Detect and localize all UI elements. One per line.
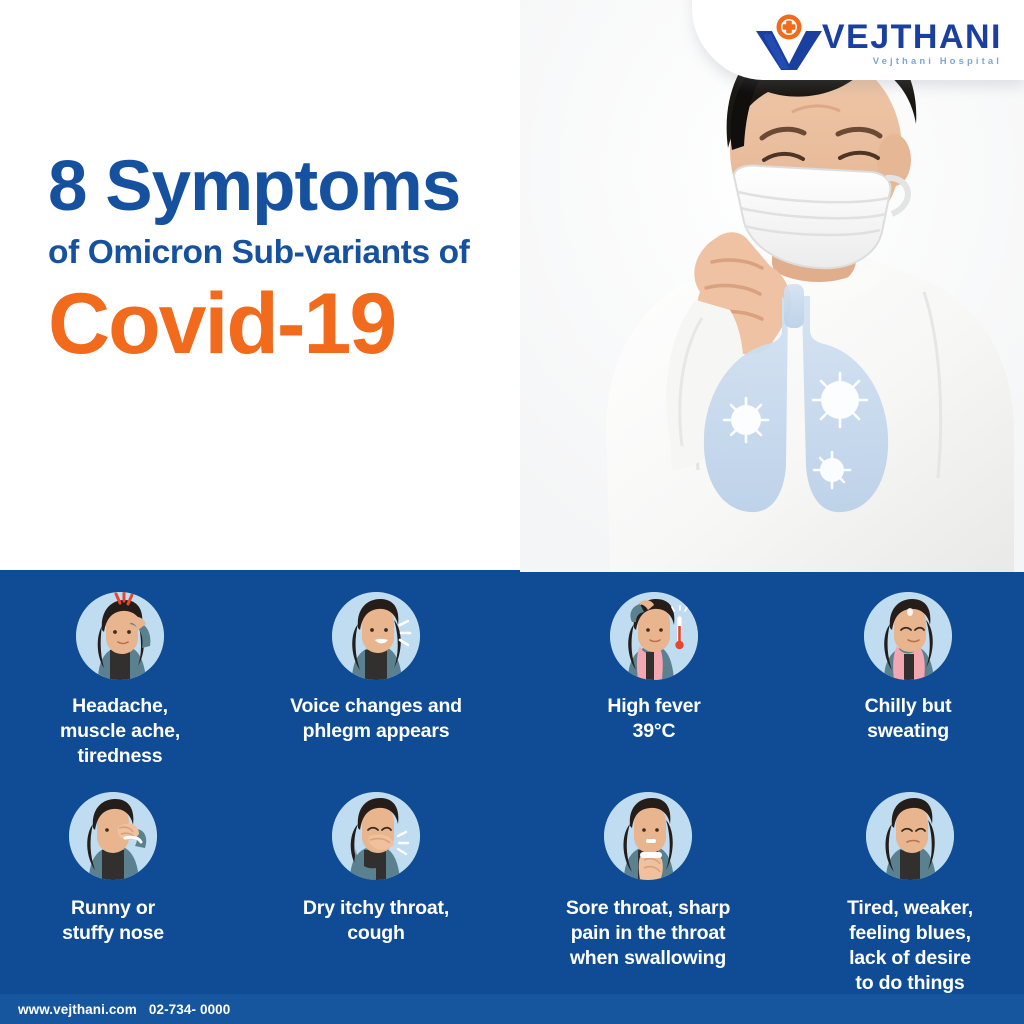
symptoms-row-2: Runny or stuffy nose [0, 792, 1024, 996]
headline-line-2: of Omicron Sub-variants of [48, 236, 469, 270]
logo-subtitle: Vejthani Hospital [822, 57, 1002, 67]
symptom-item-voice-changes: Voice changes and phlegm appears [248, 592, 504, 769]
woman-sore-throat-icon [604, 792, 692, 880]
symptom-item-headache: Headache, muscle ache, tiredness [0, 592, 248, 769]
hero-section: 8 Symptoms of Omicron Sub-variants of Co… [0, 0, 1024, 572]
symptom-label: Dry itchy throat, cough [303, 896, 449, 946]
woman-cough-icon [332, 792, 420, 880]
infographic-poster: 8 Symptoms of Omicron Sub-variants of Co… [0, 0, 1024, 1024]
vejthani-logo[interactable]: VEJTHANI Vejthani Hospital [750, 14, 1002, 72]
hero-photo-coughing-man [520, 0, 1024, 572]
symptom-label: High fever 39°C [607, 694, 700, 744]
woman-fatigue-icon [866, 792, 954, 880]
footer-bar: www.vejthani.com 02-734- 0000 [0, 994, 1024, 1024]
symptom-item-high-fever: High fever 39°C [526, 592, 782, 769]
headline-line-3: Covid-19 [48, 281, 469, 367]
symptom-item-tired-weaker: Tired, weaker, feeling blues, lack of de… [782, 792, 1024, 996]
symptoms-row-1: Headache, muscle ache, tiredness [0, 592, 1024, 769]
symptom-label: Chilly but sweating [865, 694, 952, 744]
symptom-item-runny-nose: Runny or stuffy nose [0, 792, 241, 996]
symptom-label: Tired, weaker, feeling blues, lack of de… [847, 896, 973, 996]
headline-block: 8 Symptoms of Omicron Sub-variants of Co… [48, 152, 469, 367]
symptom-item-sore-throat: Sore throat, sharp pain in the throat wh… [520, 792, 776, 996]
woman-runny-nose-icon [69, 792, 157, 880]
footer-phone[interactable]: 02-734- 0000 [149, 1002, 231, 1017]
woman-voice-change-icon [332, 592, 420, 680]
symptom-label: Runny or stuffy nose [62, 896, 164, 946]
symptom-item-dry-throat-cough: Dry itchy throat, cough [248, 792, 504, 996]
symptoms-section: Headache, muscle ache, tiredness [0, 570, 1024, 994]
woman-chills-scarf-icon [864, 592, 952, 680]
woman-fever-thermometer-icon [610, 592, 698, 680]
woman-headache-icon [76, 592, 164, 680]
headline-line-1: 8 Symptoms [48, 152, 469, 222]
footer-website[interactable]: www.vejthani.com [18, 1002, 137, 1017]
logo-wordmark: VEJTHANI [822, 20, 1002, 54]
symptom-label: Sore throat, sharp pain in the throat wh… [566, 896, 730, 971]
medical-cross-circle-icon [750, 14, 828, 72]
symptom-label: Voice changes and phlegm appears [290, 694, 462, 744]
symptom-label: Headache, muscle ache, tiredness [60, 694, 180, 769]
symptom-item-chilly-sweating: Chilly but sweating [780, 592, 1024, 769]
